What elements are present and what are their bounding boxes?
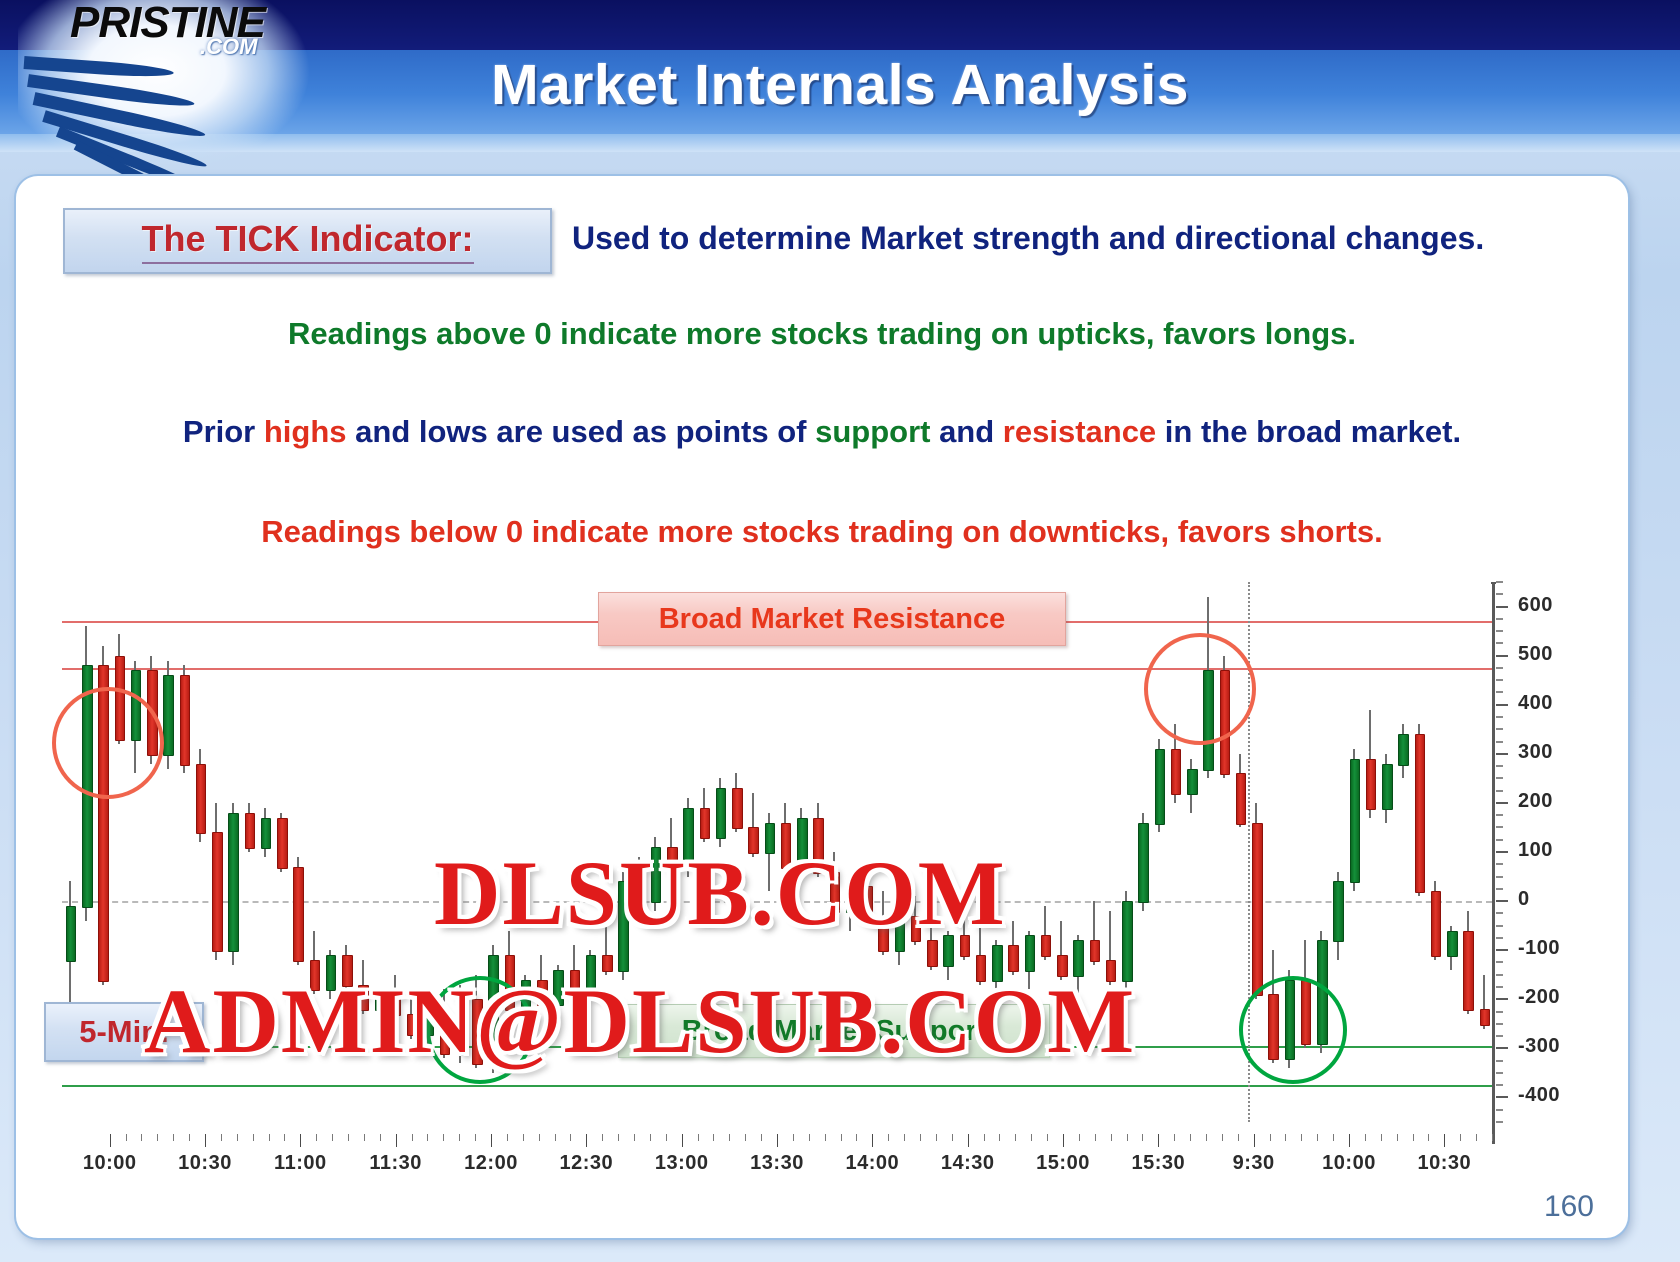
- watermark-dlsub: DLSUB.COM: [434, 840, 1007, 946]
- y-tick-mark: [1496, 1096, 1508, 1098]
- y-tick-label: 200: [1518, 790, 1553, 813]
- x-axis-minor-tick: [284, 1134, 285, 1141]
- highlight-circle-resistance-test-afternoon: [1144, 633, 1256, 745]
- candle-body: [1382, 764, 1392, 810]
- x-axis-ticks: [62, 1134, 1504, 1148]
- x-axis-minor-tick: [1047, 1134, 1048, 1141]
- candle-body: [1431, 891, 1441, 957]
- candle: [1366, 582, 1374, 1122]
- x-axis-label-10-30: 10:30: [178, 1152, 232, 1175]
- y-minor-tick-mark: [1496, 814, 1503, 816]
- y-minor-tick-mark: [1496, 642, 1503, 644]
- x-axis-major-tick: [1158, 1134, 1159, 1147]
- x-axis-minor-tick: [1413, 1134, 1414, 1141]
- x-axis-label-10-30: 10:30: [1418, 1152, 1472, 1175]
- x-axis-label-13-00: 13:00: [655, 1152, 709, 1175]
- y-minor-tick-mark: [1496, 876, 1503, 878]
- x-axis-minor-tick: [952, 1134, 953, 1141]
- x-axis-minor-tick: [1317, 1134, 1318, 1141]
- x-axis-minor-tick: [984, 1134, 985, 1141]
- page-number: 160: [1544, 1190, 1594, 1224]
- x-axis-minor-tick: [173, 1134, 174, 1141]
- readings-below-line: Readings below 0 indicate more stocks tr…: [16, 514, 1628, 550]
- slide-title: Market Internals Analysis: [0, 52, 1680, 118]
- x-axis-minor-tick: [888, 1134, 889, 1141]
- x-axis-minor-tick: [1397, 1134, 1398, 1141]
- candle-body: [180, 675, 190, 765]
- x-axis-minor-tick: [523, 1134, 524, 1141]
- y-minor-tick-mark: [1496, 765, 1503, 767]
- x-axis-minor-tick: [1142, 1134, 1143, 1141]
- candle-body: [212, 832, 222, 952]
- y-tick-mark: [1496, 753, 1508, 755]
- x-axis-minor-tick: [1285, 1134, 1286, 1141]
- x-axis-minor-tick: [555, 1134, 556, 1141]
- y-minor-tick-mark: [1496, 1060, 1503, 1062]
- y-minor-tick-mark: [1496, 1023, 1503, 1025]
- x-axis-major-tick: [1063, 1134, 1064, 1147]
- x-axis-minor-tick: [1127, 1134, 1128, 1141]
- y-minor-tick-mark: [1496, 741, 1503, 743]
- broad-market-resistance-label: Broad Market Resistance: [598, 592, 1066, 646]
- x-axis-minor-tick: [126, 1134, 127, 1141]
- x-axis-label-12-30: 12:30: [560, 1152, 614, 1175]
- candle-body: [1252, 823, 1262, 997]
- x-axis-minor-tick: [1095, 1134, 1096, 1141]
- y-minor-tick-mark: [1496, 1121, 1503, 1123]
- y-tick-label: 300: [1518, 741, 1553, 764]
- candle: [1463, 582, 1471, 1122]
- y-tick-mark: [1496, 655, 1508, 657]
- x-axis-major-tick: [396, 1134, 397, 1147]
- y-minor-tick-mark: [1496, 630, 1503, 632]
- candle-body: [277, 818, 287, 869]
- prior-highs-lows-line: Prior highs and lows are used as points …: [16, 414, 1628, 450]
- x-axis-minor-tick: [332, 1134, 333, 1141]
- x-axis-minor-tick: [157, 1134, 158, 1141]
- x-axis-major-tick: [968, 1134, 969, 1147]
- x-axis-label-11-00: 11:00: [274, 1152, 327, 1175]
- x-axis-labels: 10:0010:3011:0011:3012:0012:3013:0013:30…: [40, 1152, 1604, 1182]
- x-axis-minor-tick: [825, 1134, 826, 1141]
- y-tick-mark: [1496, 998, 1508, 1000]
- x-axis-minor-tick: [1031, 1134, 1032, 1141]
- candle: [1431, 582, 1439, 1122]
- candle-body: [1187, 769, 1197, 796]
- y-minor-tick-mark: [1496, 888, 1503, 890]
- y-minor-tick-mark: [1496, 1084, 1503, 1086]
- candle-body: [1398, 734, 1408, 765]
- x-axis-minor-tick: [904, 1134, 905, 1141]
- x-axis-minor-tick: [459, 1134, 460, 1141]
- x-axis-minor-tick: [1222, 1134, 1223, 1141]
- y-minor-tick-mark: [1496, 912, 1503, 914]
- y-minor-tick-mark: [1496, 790, 1503, 792]
- x-axis-label-13-30: 13:30: [750, 1152, 804, 1175]
- x-axis-minor-tick: [269, 1134, 270, 1141]
- y-tick-mark: [1496, 900, 1508, 902]
- x-axis-minor-tick: [698, 1134, 699, 1141]
- y-minor-tick-mark: [1496, 679, 1503, 681]
- x-axis-label-14-00: 14:00: [846, 1152, 900, 1175]
- x-axis-minor-tick: [221, 1134, 222, 1141]
- x-axis-minor-tick: [793, 1134, 794, 1141]
- x-axis-minor-tick: [475, 1134, 476, 1141]
- readings-above-line: Readings above 0 indicate more stocks tr…: [16, 316, 1628, 352]
- y-minor-tick-mark: [1496, 667, 1503, 669]
- x-axis-minor-tick: [253, 1134, 254, 1141]
- candle-body: [1480, 1009, 1490, 1026]
- y-minor-tick-mark: [1496, 1011, 1503, 1013]
- candle-body: [1415, 734, 1425, 893]
- x-axis-minor-tick: [745, 1134, 746, 1141]
- x-axis-minor-tick: [999, 1134, 1000, 1141]
- candle-body: [1171, 749, 1181, 795]
- y-tick-label: -400: [1518, 1084, 1560, 1107]
- candle-body: [1155, 749, 1165, 825]
- x-axis-minor-tick: [1206, 1134, 1207, 1141]
- x-axis-minor-tick: [809, 1134, 810, 1141]
- tick-description: Used to determine Market strength and di…: [572, 220, 1484, 257]
- y-minor-tick-mark: [1496, 691, 1503, 693]
- y-tick-mark: [1496, 851, 1508, 853]
- y-tick-mark: [1496, 606, 1508, 608]
- candle: [1398, 582, 1406, 1122]
- y-minor-tick-mark: [1496, 593, 1503, 595]
- x-axis-label-12-00: 12:00: [464, 1152, 518, 1175]
- highlight-circle-resistance-test-morning: [52, 687, 164, 799]
- x-axis-minor-tick: [602, 1134, 603, 1141]
- x-axis-label-15-00: 15:00: [1036, 1152, 1090, 1175]
- x-axis-minor-tick: [1270, 1134, 1271, 1141]
- prior-support-word: support: [815, 414, 930, 449]
- y-minor-tick-mark: [1496, 581, 1503, 583]
- candle-body: [1350, 759, 1360, 884]
- x-axis-label-14-30: 14:30: [941, 1152, 995, 1175]
- x-axis-minor-tick: [1174, 1134, 1175, 1141]
- y-tick-label: 600: [1518, 594, 1553, 617]
- y-tick-label: -100: [1518, 937, 1560, 960]
- x-axis-label-15-30: 15:30: [1132, 1152, 1186, 1175]
- x-axis-label-9-30: 9:30: [1233, 1152, 1275, 1175]
- x-axis-minor-tick: [1492, 1134, 1493, 1141]
- candle-body: [1333, 881, 1343, 942]
- candle: [1480, 582, 1488, 1122]
- x-axis-minor-tick: [1301, 1134, 1302, 1141]
- y-minor-tick-mark: [1496, 839, 1503, 841]
- y-minor-tick-mark: [1496, 925, 1503, 927]
- y-minor-tick-mark: [1496, 863, 1503, 865]
- y-tick-mark: [1496, 1047, 1508, 1049]
- candle: [1350, 582, 1358, 1122]
- candle-body: [700, 808, 710, 839]
- x-axis-minor-tick: [1365, 1134, 1366, 1141]
- x-axis-minor-tick: [364, 1134, 365, 1141]
- x-axis-major-tick: [1444, 1134, 1445, 1147]
- x-axis-minor-tick: [761, 1134, 762, 1141]
- x-axis-minor-tick: [936, 1134, 937, 1141]
- x-axis-minor-tick: [427, 1134, 428, 1141]
- x-axis-minor-tick: [1460, 1134, 1461, 1141]
- x-axis-minor-tick: [443, 1134, 444, 1141]
- x-axis-minor-tick: [729, 1134, 730, 1141]
- tick-indicator-label: The TICK Indicator:: [142, 218, 474, 264]
- candle: [1138, 582, 1146, 1122]
- candle-body: [293, 867, 303, 962]
- x-axis-minor-tick: [1428, 1134, 1429, 1141]
- candle: [1447, 582, 1455, 1122]
- x-axis-minor-tick: [1190, 1134, 1191, 1141]
- y-minor-tick-mark: [1496, 1109, 1503, 1111]
- candle-body: [196, 764, 206, 835]
- y-tick-label: 100: [1518, 839, 1553, 862]
- tick-indicator-badge: The TICK Indicator:: [63, 208, 552, 274]
- candle-body: [245, 813, 255, 849]
- x-axis-major-tick: [1254, 1134, 1255, 1147]
- candle: [1382, 582, 1390, 1122]
- highlight-circle-support-test-open: [1239, 976, 1347, 1084]
- y-tick-label: 400: [1518, 692, 1553, 715]
- y-tick-mark: [1496, 949, 1508, 951]
- x-axis-minor-tick: [1476, 1134, 1477, 1141]
- y-minor-tick-mark: [1496, 974, 1503, 976]
- y-minor-tick-mark: [1496, 728, 1503, 730]
- y-tick-mark: [1496, 704, 1508, 706]
- y-minor-tick-mark: [1496, 986, 1503, 988]
- x-axis-label-10-00: 10:00: [1322, 1152, 1376, 1175]
- x-axis-minor-tick: [237, 1134, 238, 1141]
- candle-body: [1090, 940, 1100, 962]
- x-axis-minor-tick: [713, 1134, 714, 1141]
- x-axis-major-tick: [491, 1134, 492, 1147]
- y-minor-tick-mark: [1496, 1072, 1503, 1074]
- x-axis-minor-tick: [634, 1134, 635, 1141]
- x-axis-major-tick: [110, 1134, 111, 1147]
- x-axis-minor-tick: [618, 1134, 619, 1141]
- y-minor-tick-mark: [1496, 1035, 1503, 1037]
- x-axis-minor-tick: [920, 1134, 921, 1141]
- x-axis-major-tick: [777, 1134, 778, 1147]
- x-axis-minor-tick: [380, 1134, 381, 1141]
- x-axis-label-10-00: 10:00: [83, 1152, 137, 1175]
- x-axis-minor-tick: [348, 1134, 349, 1141]
- watermark-admin-email: ADMIN@DLSUB.COM: [144, 968, 1136, 1074]
- x-axis-major-tick: [586, 1134, 587, 1147]
- y-tick-label: -300: [1518, 1035, 1560, 1058]
- x-axis-minor-tick: [141, 1134, 142, 1141]
- x-axis-minor-tick: [666, 1134, 667, 1141]
- x-axis-major-tick: [205, 1134, 206, 1147]
- y-minor-tick-mark: [1496, 618, 1503, 620]
- x-axis-minor-tick: [1079, 1134, 1080, 1141]
- candle-body: [228, 813, 238, 952]
- x-axis-major-tick: [1349, 1134, 1350, 1147]
- prior-part-3: and: [930, 414, 1002, 449]
- prior-part-1: Prior: [183, 414, 264, 449]
- y-minor-tick-mark: [1496, 826, 1503, 828]
- x-axis-label-11-30: 11:30: [369, 1152, 422, 1175]
- candle-body: [261, 818, 271, 849]
- x-axis-minor-tick: [539, 1134, 540, 1141]
- y-minor-tick-mark: [1496, 937, 1503, 939]
- candle-body: [1463, 931, 1473, 1012]
- x-axis-minor-tick: [1111, 1134, 1112, 1141]
- candle-body: [1041, 935, 1051, 957]
- prior-part-2: and lows are used as points of: [347, 414, 816, 449]
- candle-body: [1025, 935, 1035, 971]
- x-axis-minor-tick: [856, 1134, 857, 1141]
- y-tick-label: 500: [1518, 643, 1553, 666]
- candle-body: [163, 675, 173, 756]
- y-minor-tick-mark: [1496, 716, 1503, 718]
- prior-highs-word: highs: [264, 414, 347, 449]
- candle-body: [66, 906, 76, 962]
- candle-body: [1138, 823, 1148, 904]
- x-axis-minor-tick: [570, 1134, 571, 1141]
- x-axis-minor-tick: [650, 1134, 651, 1141]
- x-axis-minor-tick: [1238, 1134, 1239, 1141]
- candle-body: [1236, 773, 1246, 824]
- y-minor-tick-mark: [1496, 961, 1503, 963]
- y-axis-line: [1492, 582, 1495, 1144]
- x-axis-minor-tick: [1381, 1134, 1382, 1141]
- x-axis-minor-tick: [189, 1134, 190, 1141]
- candle-body: [1447, 931, 1457, 958]
- resistance-label-text: Broad Market Resistance: [659, 603, 1006, 636]
- candle-body: [1366, 759, 1376, 810]
- x-axis-minor-tick: [841, 1134, 842, 1141]
- slide-root: PRISTINE .COM Market Internals Analysis …: [0, 0, 1680, 1262]
- x-axis-minor-tick: [1015, 1134, 1016, 1141]
- candle-body: [716, 788, 726, 839]
- x-axis-minor-tick: [507, 1134, 508, 1141]
- y-tick-label: -200: [1518, 986, 1560, 1009]
- y-tick-label: 0: [1518, 888, 1530, 911]
- x-axis-minor-tick: [1333, 1134, 1334, 1141]
- y-tick-mark: [1496, 802, 1508, 804]
- content-card: The TICK Indicator: Used to determine Ma…: [16, 176, 1628, 1238]
- x-axis-major-tick: [872, 1134, 873, 1147]
- candle: [1415, 582, 1423, 1122]
- prior-resistance-word: resistance: [1003, 414, 1156, 449]
- prior-part-4: in the broad market.: [1156, 414, 1461, 449]
- x-axis-minor-tick: [412, 1134, 413, 1141]
- y-minor-tick-mark: [1496, 777, 1503, 779]
- candle-body: [732, 788, 742, 829]
- x-axis-major-tick: [300, 1134, 301, 1147]
- header-band: PRISTINE .COM Market Internals Analysis: [0, 0, 1680, 152]
- x-axis-major-tick: [682, 1134, 683, 1147]
- x-axis-minor-tick: [316, 1134, 317, 1141]
